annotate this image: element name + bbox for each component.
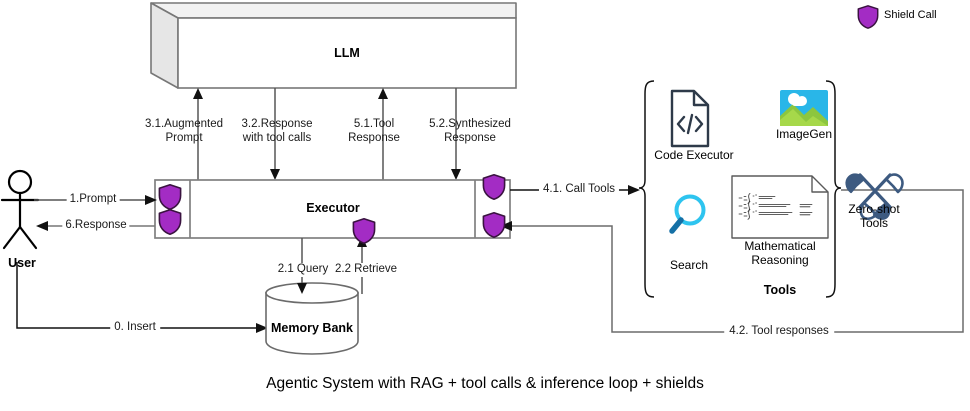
edge-label-3-2-line1: 3.2.Response [242, 118, 313, 132]
edge-label-3-2-line2: with tool calls [243, 132, 311, 146]
tool-label-math-reasoning-line2: Reasoning [751, 253, 808, 267]
edge-label-4-2-tool-responses: 4.2. Tool responses [724, 325, 834, 339]
magnifier-icon [672, 197, 704, 232]
executor-node-label: Executor [306, 201, 360, 216]
edge-label-3-1-line1: 3.1.Augmented [145, 118, 223, 132]
edge-label-5-2-line1: 5.2.Synthesized [429, 118, 511, 132]
shield-icon-executor-in-top [159, 185, 180, 209]
formula-document-icon [732, 176, 828, 238]
edge-label-5-2-line2: Response [444, 132, 496, 146]
edge-label-3-1-line2: Prompt [165, 132, 202, 146]
agentic-system-diagram: LLM Executor Memory Bank User 3.1.Augmen… [0, 0, 970, 411]
memory-bank-node-label: Memory Bank [271, 321, 353, 336]
shield-icon-legend [858, 6, 877, 28]
tool-label-zero-shot-line1: Zero-shot [848, 202, 899, 216]
tool-label-zero-shot-line2: Tools [860, 216, 888, 230]
edge-label-6-response: 6.Response [62, 219, 129, 233]
edge-label-4-1-call-tools: 4.1. Call Tools [539, 183, 619, 197]
diagram-caption: Agentic System with RAG + tool calls & i… [266, 375, 704, 393]
edge-label-5-1-line2: Response [348, 132, 400, 146]
tool-label-search: Search [670, 258, 708, 272]
memory-bank-node-shape [266, 283, 358, 354]
tool-label-code-executor: Code Executor [654, 148, 733, 162]
shield-icon-memory-retrieve [353, 219, 374, 243]
user-actor-shape [2, 171, 38, 248]
tools-group-bracket-left [639, 81, 654, 297]
shield-icon-executor-out-top [483, 175, 504, 199]
shield-icon-executor-out-bottom [483, 213, 504, 237]
edge-label-1-prompt: 1.Prompt [67, 193, 120, 207]
image-picture-icon [780, 90, 828, 126]
diagram-canvas [0, 0, 970, 411]
tool-label-math-reasoning-line1: Mathematical [744, 239, 815, 253]
edge-label-2-2-retrieve: 2.2 Retrieve [333, 263, 399, 277]
edge-label-5-1-line1: 5.1.Tool [354, 118, 394, 132]
user-actor-label: User [8, 256, 36, 271]
tools-group-label: Tools [764, 283, 796, 298]
edge-label-2-1-query: 2.1 Query [276, 263, 331, 277]
legend-shield-label: Shield Call [884, 9, 937, 22]
shield-icon-executor-in-bottom [159, 210, 180, 234]
llm-node-label: LLM [334, 46, 360, 61]
tool-label-imagegen: ImageGen [776, 127, 832, 141]
code-document-icon [672, 91, 708, 146]
edge-label-0-insert: 0. Insert [110, 321, 160, 335]
tools-group-bracket-right [826, 81, 841, 297]
